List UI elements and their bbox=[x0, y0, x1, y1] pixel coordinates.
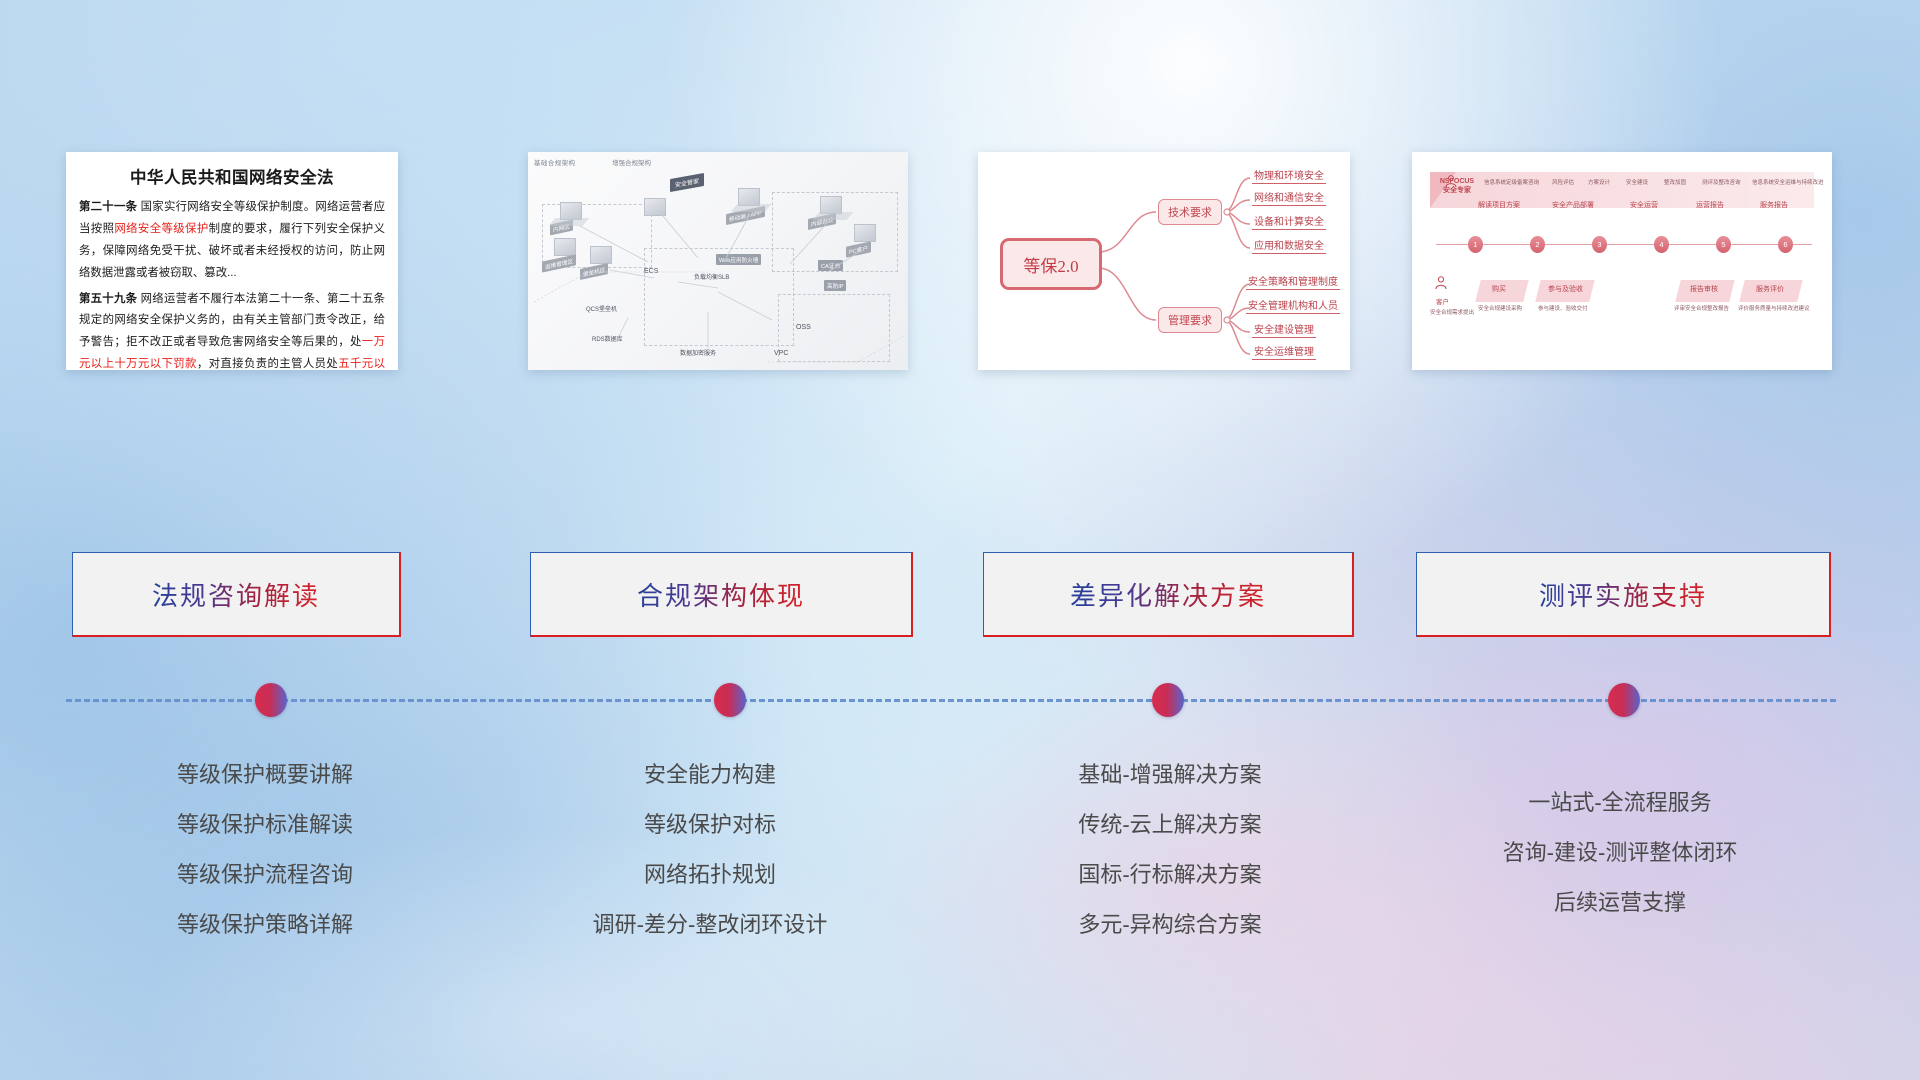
nsfocus-footer-title-0: 购买 bbox=[1492, 284, 1506, 294]
nsfocus-step-6: 6 bbox=[1778, 236, 1793, 253]
nsfocus-phase-1: 安全产品部署 bbox=[1552, 200, 1594, 210]
mindmap-leaf-network-comm: 网络和通信安全 bbox=[1252, 189, 1326, 206]
mindmap-branch-management: 管理要求 bbox=[1158, 307, 1222, 333]
mindmap-leaf-policy-system: 安全策略和管理制度 bbox=[1246, 273, 1340, 290]
mindmap-leaf-org-personnel: 安全管理机构和人员 bbox=[1246, 297, 1340, 314]
nsfocus-timeline-axis bbox=[1436, 244, 1812, 245]
list-item: 基础-增强解决方案 bbox=[960, 750, 1380, 800]
arch-plate-2 bbox=[731, 204, 772, 212]
list-item: 后续运营支撑 bbox=[1400, 878, 1840, 928]
arch-connector-lines bbox=[528, 152, 908, 370]
mindmap-branch-technical: 技术要求 bbox=[1158, 199, 1222, 225]
law-article-59-label: 第五十九条 bbox=[79, 293, 137, 305]
timeline-dashed-line bbox=[66, 699, 1836, 702]
timeline-marker-2[interactable] bbox=[714, 683, 746, 717]
list-item: 调研-差分-整改闭环设计 bbox=[500, 900, 920, 950]
section-title-label-3: 差异化解决方案 bbox=[1070, 576, 1266, 613]
section-items-4: 一站式-全流程服务 咨询-建设-测评整体闭环 后续运营支撑 bbox=[1400, 778, 1840, 928]
section-items-2: 安全能力构建 等级保护对标 网络拓扑规划 调研-差分-整改闭环设计 bbox=[500, 750, 920, 950]
list-item: 等级保护策略详解 bbox=[60, 900, 470, 950]
nsfocus-customer-sub: 安全合规需求提出 bbox=[1430, 308, 1474, 316]
list-item: 咨询-建设-测评整体闭环 bbox=[1400, 828, 1840, 878]
card-law-document[interactable]: 中华人民共和国网络安全法 第二十一条 国家实行网络安全等级保护制度。网络运营者应… bbox=[66, 152, 398, 370]
law-article-59-text-b: ，对直接负责的主管人员处 bbox=[197, 358, 338, 370]
card-architecture-diagram[interactable]: 基础合规架构 增强合规架构 安全管家 内网区 运维管理区 堡垒机区 移动端 / … bbox=[528, 152, 908, 370]
nsfocus-footer-title-1: 参与及验收 bbox=[1548, 284, 1583, 294]
section-items-1: 等级保护概要讲解 等级保护标准解读 等级保护流程咨询 等级保护策略详解 bbox=[60, 750, 470, 950]
section-title-box-1[interactable]: 法规咨询解读 bbox=[72, 552, 401, 637]
nsfocus-band-item-2: 方案设计 bbox=[1588, 178, 1610, 186]
law-article-21-label: 第二十一条 bbox=[79, 201, 137, 213]
timeline-marker-4[interactable] bbox=[1608, 683, 1640, 717]
architecture-canvas: 基础合规架构 增强合规架构 安全管家 内网区 运维管理区 堡垒机区 移动端 / … bbox=[528, 152, 908, 370]
nsfocus-step-3: 3 bbox=[1592, 236, 1607, 253]
law-title: 中华人民共和国网络安全法 bbox=[66, 164, 398, 188]
section-title-label-4: 测评实施支持 bbox=[1539, 576, 1707, 613]
nsfocus-phase-4: 服务报告 bbox=[1760, 200, 1788, 210]
card-mindmap[interactable]: 等保2.0 技术要求 管理要求 物理和环境安全 网络和通信安全 设备和计算安全 … bbox=[978, 152, 1350, 370]
section-title-box-4[interactable]: 测评实施支持 bbox=[1416, 552, 1831, 637]
timeline-marker-1[interactable] bbox=[255, 683, 287, 717]
nsfocus-logo: NSFOCUS 安全专家 bbox=[1436, 178, 1478, 196]
list-item: 等级保护标准解读 bbox=[60, 800, 470, 850]
section-title-box-3[interactable]: 差异化解决方案 bbox=[983, 552, 1354, 637]
arch-plate-3 bbox=[813, 212, 854, 220]
mindmap-leaf-device-compute: 设备和计算安全 bbox=[1252, 213, 1326, 230]
preview-cards-row: 中华人民共和国网络安全法 第二十一条 国家实行网络安全等级保护制度。网络运营者应… bbox=[0, 0, 1920, 430]
list-item: 网络拓扑规划 bbox=[500, 850, 920, 900]
nsfocus-band-item-6: 信息系统安全运维与持续改进 bbox=[1752, 178, 1824, 186]
arch-plate-1 bbox=[549, 218, 590, 226]
nsfocus-phase-0: 解读项目方案 bbox=[1478, 200, 1520, 210]
list-item: 等级保护概要讲解 bbox=[60, 750, 470, 800]
nsfocus-band-item-0: 信息系统定级备案咨询 bbox=[1484, 178, 1539, 186]
nsfocus-footer-title-2: 报告审核 bbox=[1690, 284, 1718, 294]
nsfocus-footer-title-3: 服务评价 bbox=[1756, 284, 1784, 294]
nsfocus-customer-label: 客户 bbox=[1436, 296, 1449, 306]
mindmap-canvas: 等保2.0 技术要求 管理要求 物理和环境安全 网络和通信安全 设备和计算安全 … bbox=[978, 152, 1350, 370]
list-item: 安全能力构建 bbox=[500, 750, 920, 800]
nsfocus-footer-sub-1: 参与建设、验收交付 bbox=[1538, 304, 1588, 312]
list-item: 传统-云上解决方案 bbox=[960, 800, 1380, 850]
law-article-21-highlight: 网络安全等级保护 bbox=[114, 223, 208, 235]
nsfocus-step-1: 1 bbox=[1468, 236, 1483, 253]
nsfocus-footer-sub-3: 评价服务质量与持续改进建议 bbox=[1738, 304, 1810, 312]
nsfocus-logo-line2: 安全专家 bbox=[1436, 187, 1478, 196]
nsfocus-band-item-4: 整改加固 bbox=[1664, 178, 1686, 186]
nsfocus-logo-line1: NSFOCUS bbox=[1436, 178, 1478, 187]
nsfocus-footer-sub-0: 安全合规建设采购 bbox=[1478, 304, 1522, 312]
nsfocus-step-5: 5 bbox=[1716, 236, 1731, 253]
mindmap-leaf-app-data: 应用和数据安全 bbox=[1252, 237, 1326, 254]
nsfocus-footer-sub-2: 评审安全合规整改报告 bbox=[1674, 304, 1729, 312]
card-nsfocus-timeline[interactable]: NSFOCUS 安全专家 信息系统定级备案咨询 风险评估 方案设计 安全建设 整… bbox=[1412, 152, 1832, 370]
nsfocus-customer-icon bbox=[1434, 276, 1464, 292]
nsfocus-step-4: 4 bbox=[1654, 236, 1669, 253]
mindmap-leaf-construction-mgmt: 安全建设管理 bbox=[1252, 321, 1316, 338]
mindmap-root: 等保2.0 bbox=[1000, 238, 1102, 290]
nsfocus-band-item-3: 安全建设 bbox=[1626, 178, 1648, 186]
mindmap-leaf-ops-mgmt: 安全运维管理 bbox=[1252, 343, 1316, 360]
section-items-3: 基础-增强解决方案 传统-云上解决方案 国标-行标解决方案 多元-异构综合方案 bbox=[960, 750, 1380, 950]
nsfocus-step-2: 2 bbox=[1530, 236, 1545, 253]
mindmap-leaf-physical-env: 物理和环境安全 bbox=[1252, 167, 1326, 184]
list-item: 国标-行标解决方案 bbox=[960, 850, 1380, 900]
section-title-box-2[interactable]: 合规架构体现 bbox=[530, 552, 913, 637]
list-item: 等级保护对标 bbox=[500, 800, 920, 850]
nsfocus-band-item-5: 测评及整改咨询 bbox=[1702, 178, 1741, 186]
nsfocus-canvas: NSFOCUS 安全专家 信息系统定级备案咨询 风险评估 方案设计 安全建设 整… bbox=[1412, 152, 1832, 370]
nsfocus-phase-3: 运营报告 bbox=[1696, 200, 1724, 210]
list-item: 多元-异构综合方案 bbox=[960, 900, 1380, 950]
timeline-marker-3[interactable] bbox=[1152, 683, 1184, 717]
list-item: 一站式-全流程服务 bbox=[1400, 778, 1840, 828]
section-title-label-1: 法规咨询解读 bbox=[152, 576, 320, 613]
law-body: 第二十一条 国家实行网络安全等级保护制度。网络运营者应当按照网络安全等级保护制度… bbox=[66, 197, 398, 370]
list-item: 等级保护流程咨询 bbox=[60, 850, 470, 900]
nsfocus-phase-2: 安全运营 bbox=[1630, 200, 1658, 210]
nsfocus-band-item-1: 风险评估 bbox=[1552, 178, 1574, 186]
section-title-label-2: 合规架构体现 bbox=[637, 576, 805, 613]
